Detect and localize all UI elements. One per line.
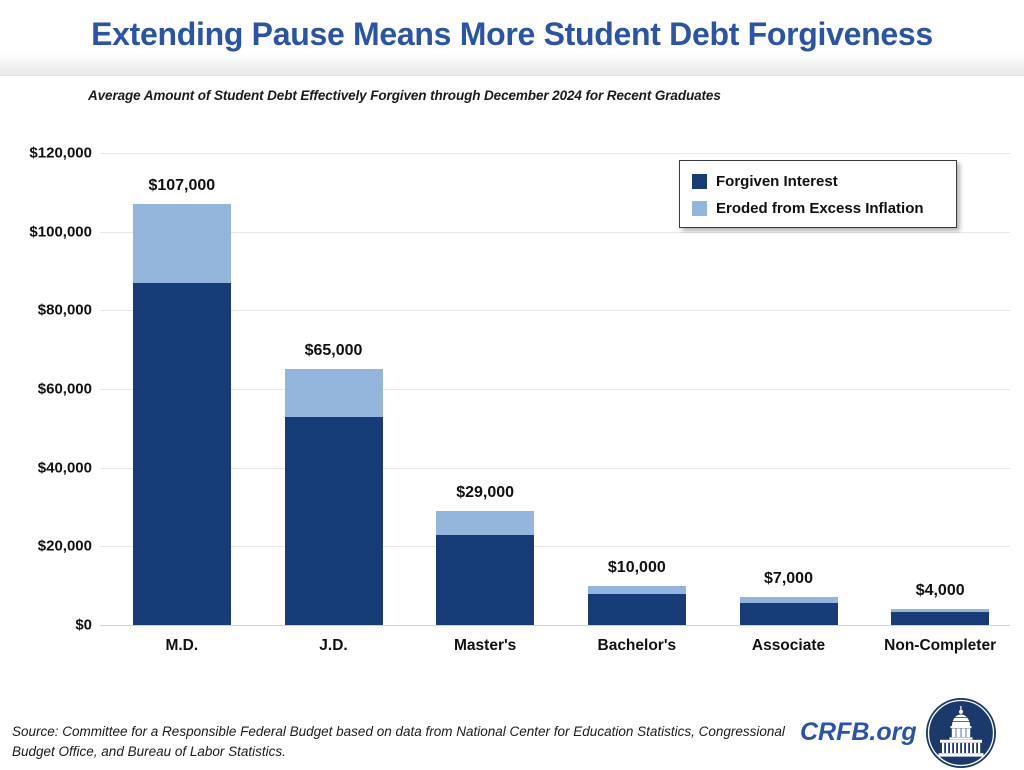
capitol-dome-icon — [925, 697, 997, 769]
bar-segment-forgiven-interest[interactable] — [285, 417, 383, 625]
bar-segment-forgiven-interest[interactable] — [891, 612, 989, 625]
bar-segment-eroded-inflation[interactable] — [133, 204, 231, 283]
bar-group[interactable]: $107,000 — [133, 153, 231, 625]
x-axis-tick-label: Non-Completer — [861, 637, 1019, 655]
bar-segment-forgiven-interest[interactable] — [436, 535, 534, 625]
bar-value-label: $7,000 — [710, 570, 868, 588]
bar-value-label: $65,000 — [255, 342, 413, 360]
bar-segment-eroded-inflation[interactable] — [436, 511, 534, 535]
bar-segment-forgiven-interest[interactable] — [740, 603, 838, 625]
x-axis-tick-label: M.D. — [103, 637, 261, 655]
chart-subtitle: Average Amount of Student Debt Effective… — [88, 88, 721, 103]
legend-item-forgiven-interest: Forgiven Interest — [692, 168, 956, 195]
bar-group[interactable]: $10,000 — [588, 153, 686, 625]
bar-stack[interactable] — [740, 597, 838, 625]
bar-stack[interactable] — [891, 609, 989, 625]
bar-segment-forgiven-interest[interactable] — [588, 594, 686, 625]
crfb-wordmark: CRFB.org — [800, 718, 917, 747]
y-axis-tick-label: $20,000 — [4, 538, 92, 555]
y-axis: $0$20,000$40,000$60,000$80,000$100,000$1… — [0, 153, 92, 625]
bar-segment-eroded-inflation[interactable] — [588, 586, 686, 594]
chart-legend: Forgiven Interest Eroded from Excess Inf… — [679, 160, 957, 228]
gridline — [100, 625, 1010, 626]
x-axis-tick-label: J.D. — [255, 637, 413, 655]
bar-segment-forgiven-interest[interactable] — [133, 283, 231, 625]
y-axis-tick-label: $0 — [4, 617, 92, 634]
bar-stack[interactable] — [133, 204, 231, 625]
x-axis-tick-label: Master's — [406, 637, 564, 655]
bar-stack[interactable] — [285, 369, 383, 625]
x-axis-tick-label: Associate — [710, 637, 868, 655]
bar-stack[interactable] — [436, 511, 534, 625]
y-axis-tick-label: $40,000 — [4, 459, 92, 476]
chart-page: Extending Pause Means More Student Debt … — [0, 0, 1024, 770]
bar-segment-eroded-inflation[interactable] — [285, 369, 383, 416]
legend-item-eroded-inflation: Eroded from Excess Inflation — [692, 195, 956, 222]
bar-value-label: $10,000 — [558, 559, 716, 577]
legend-label: Eroded from Excess Inflation — [716, 200, 924, 217]
x-axis-tick-label: Bachelor's — [558, 637, 716, 655]
y-axis-tick-label: $100,000 — [4, 223, 92, 240]
bar-value-label: $29,000 — [406, 484, 564, 502]
legend-label: Forgiven Interest — [716, 173, 838, 190]
y-axis-tick-label: $60,000 — [4, 381, 92, 398]
legend-swatch-icon — [692, 201, 707, 216]
bar-stack[interactable] — [588, 586, 686, 625]
bar-group[interactable]: $29,000 — [436, 153, 534, 625]
y-axis-tick-label: $120,000 — [4, 145, 92, 162]
y-axis-tick-label: $80,000 — [4, 302, 92, 319]
page-title: Extending Pause Means More Student Debt … — [0, 16, 1024, 53]
bar-group[interactable]: $65,000 — [285, 153, 383, 625]
legend-swatch-icon — [692, 174, 707, 189]
bar-value-label: $4,000 — [861, 582, 1019, 600]
source-note: Source: Committee for a Responsible Fede… — [12, 722, 802, 761]
bar-value-label: $107,000 — [103, 177, 261, 195]
